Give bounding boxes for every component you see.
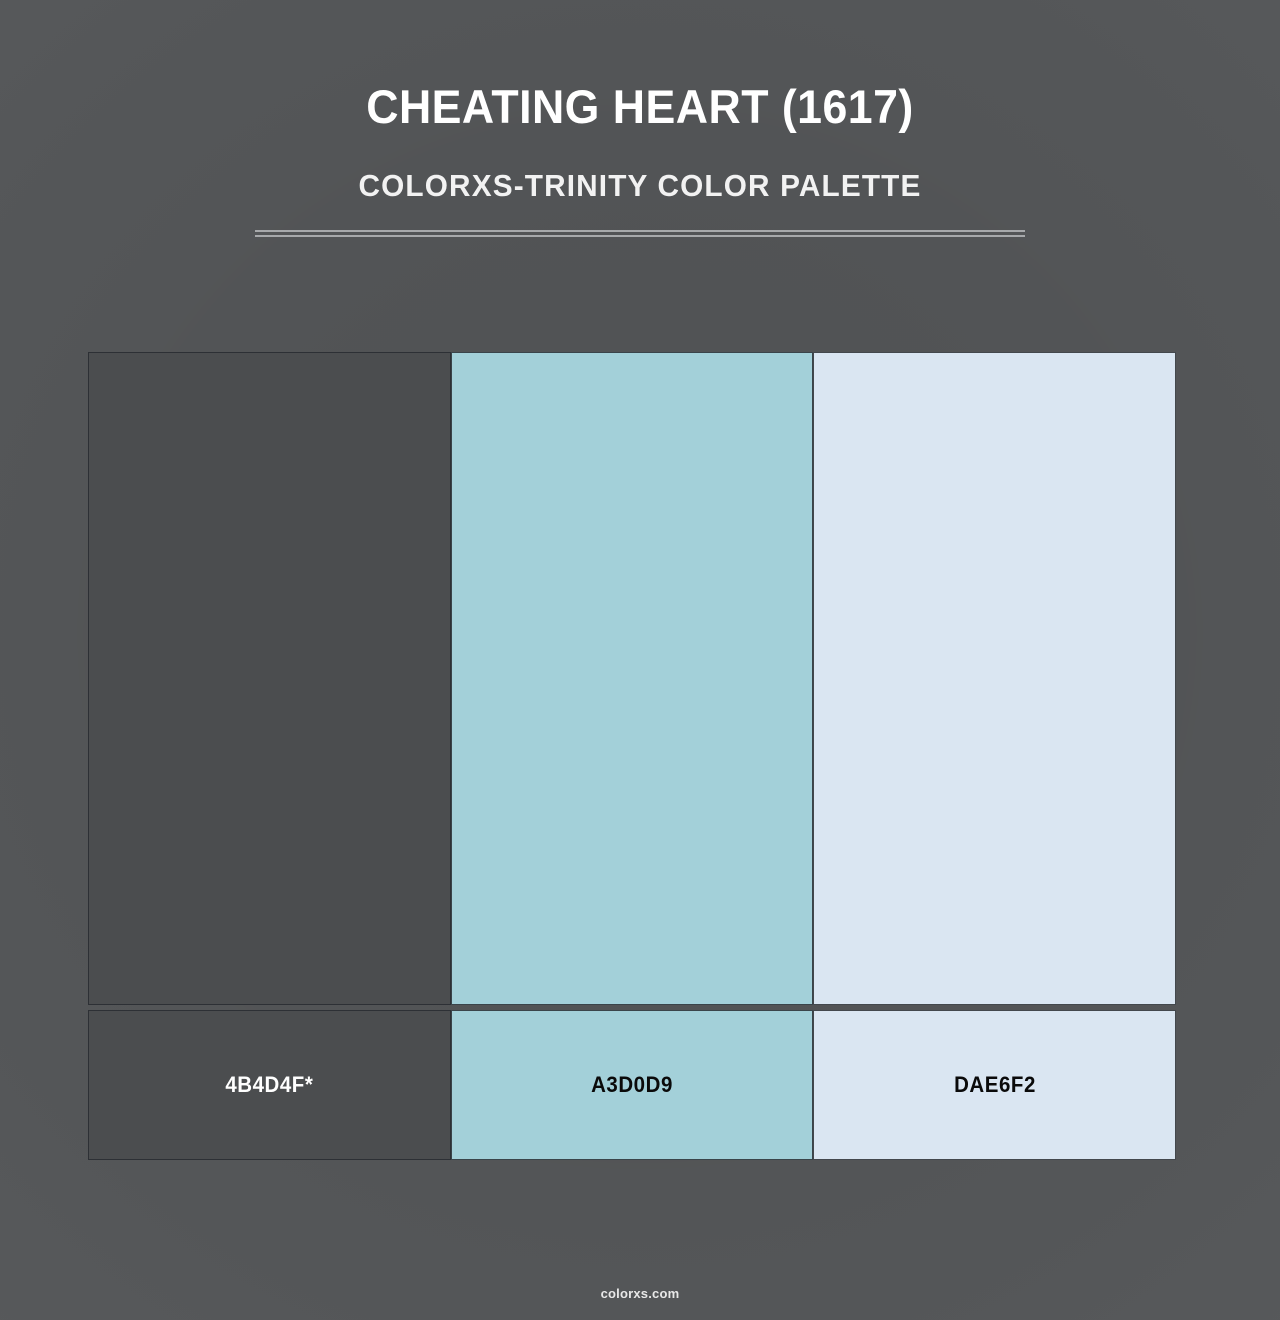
color-swatch[interactable] <box>451 352 814 1005</box>
swatch-label-band: 4B4D4F* A3D0D9 DAE6F2 <box>88 1010 1176 1160</box>
color-hex-label: A3D0D9 <box>591 1072 673 1098</box>
page-subtitle: COLORXS-TRINITY COLOR PALETTE <box>26 165 1255 207</box>
color-label-cell[interactable]: 4B4D4F* <box>88 1010 451 1160</box>
page-title: CHEATING HEART (1617) <box>32 76 1248 138</box>
footer: colorxs.com <box>0 1285 1280 1303</box>
divider-line-top <box>255 230 1025 232</box>
divider-line-bottom <box>255 235 1025 237</box>
palette-page: CHEATING HEART (1617) COLORXS-TRINITY CO… <box>0 0 1280 1320</box>
color-hex-label: DAE6F2 <box>954 1072 1036 1098</box>
color-palette: 4B4D4F* A3D0D9 DAE6F2 <box>88 352 1176 1160</box>
swatch-band <box>88 352 1176 1005</box>
header-divider <box>255 230 1025 237</box>
color-hex-label: 4B4D4F* <box>225 1072 313 1098</box>
color-swatch[interactable] <box>88 352 451 1005</box>
color-swatch[interactable] <box>813 352 1176 1005</box>
site-watermark: colorxs.com <box>601 1286 680 1301</box>
color-label-cell[interactable]: DAE6F2 <box>813 1010 1176 1160</box>
color-label-cell[interactable]: A3D0D9 <box>451 1010 814 1160</box>
